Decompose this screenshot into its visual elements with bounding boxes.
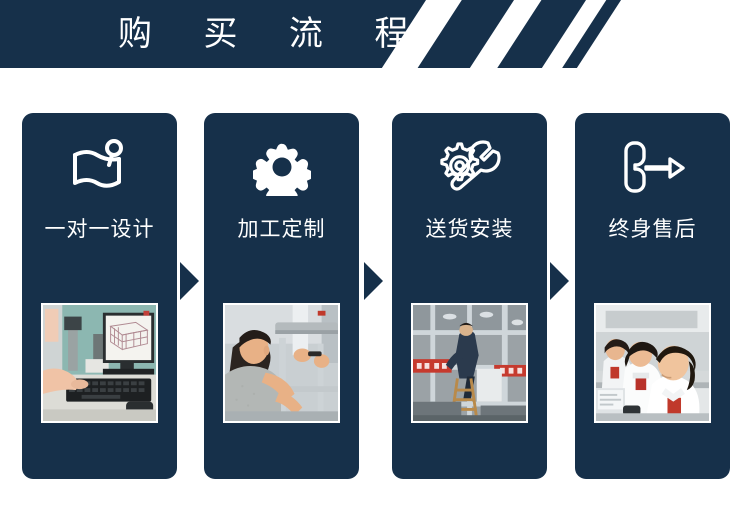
header-banner: 购 买 流 程 xyxy=(0,0,750,68)
gear-icon xyxy=(204,131,359,203)
banner-stripe-2 xyxy=(442,0,559,68)
step-photo-3 xyxy=(411,303,528,423)
phone-arrow-icon xyxy=(575,131,730,203)
step-photo-4 xyxy=(594,303,711,423)
chevron-right-icon-1 xyxy=(180,262,202,300)
chevron-right-icon-2 xyxy=(364,262,386,300)
step-label-1: 一对一设计 xyxy=(22,216,177,244)
step-card-4[interactable]: 终身售后 xyxy=(575,113,730,479)
step-label-2: 加工定制 xyxy=(204,216,359,244)
map-pin-icon xyxy=(22,131,177,203)
step-photo-2 xyxy=(223,303,340,423)
page-title: 购 买 流 程 xyxy=(118,8,429,60)
step-card-3[interactable]: 送货安装 xyxy=(392,113,547,479)
step-card-2[interactable]: 加工定制 xyxy=(204,113,359,479)
step-photo-1 xyxy=(41,303,158,423)
gear-wrench-icon xyxy=(392,131,547,203)
chevron-right-icon-3 xyxy=(550,262,572,300)
purchase-process-infographic: 购 买 流 程 一对一设计 xyxy=(0,0,750,522)
step-label-4: 终身售后 xyxy=(575,216,730,244)
step-label-3: 送货安装 xyxy=(392,216,547,244)
step-card-1[interactable]: 一对一设计 xyxy=(22,113,177,479)
